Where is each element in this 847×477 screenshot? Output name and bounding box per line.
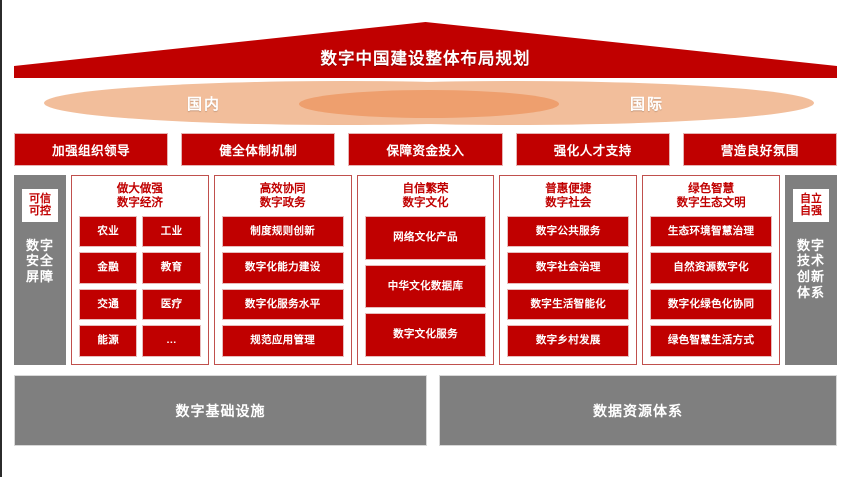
pillar-heading: 做大做强 数字经济 <box>79 182 201 211</box>
right-sidebar-title: 数字 技术 创新 体系 <box>797 238 825 301</box>
pillar-heading: 自信繁荣 数字文化 <box>365 182 487 211</box>
pillar-eco-civilization[interactable]: 绿色智慧 数字生态文明 生态环境智慧治理 自然资源数字化 数字化绿色化协同 绿色… <box>642 175 780 365</box>
pillar-heading: 高效协同 数字政务 <box>222 182 344 211</box>
pillar-tiles: 生态环境智慧治理 自然资源数字化 数字化绿色化协同 绿色智慧生活方式 <box>650 216 772 357</box>
tile-item[interactable]: 数字文化服务 <box>365 313 487 357</box>
tile-item[interactable]: 数字生活智能化 <box>507 289 629 321</box>
tile-item[interactable]: 绿色智慧生活方式 <box>650 325 772 357</box>
tile-item[interactable]: 医疗 <box>142 289 200 321</box>
measure-banner-1[interactable]: 加强组织领导 <box>14 133 168 166</box>
tile-item[interactable]: 数字化绿色化协同 <box>650 289 772 321</box>
measure-banner-3[interactable]: 保障资金投入 <box>348 133 502 166</box>
tile-item-ellipsis[interactable]: … <box>142 325 200 357</box>
foundation-row: 数字基础设施 数据资源体系 <box>14 375 837 446</box>
roof-banner: 数字中国建设整体布局规划 <box>14 22 837 78</box>
right-sidebar-badge: 自立 自强 <box>793 189 829 222</box>
pillars-container: 做大做强 数字经济 农业 工业 金融 教育 交通 医疗 能源 … 高效协同 数字… <box>71 175 780 365</box>
pillars-row: 可信 可控 数字 安全 屏障 做大做强 数字经济 农业 工业 金融 教育 交通 … <box>14 175 837 365</box>
tile-item[interactable]: 规范应用管理 <box>222 325 344 357</box>
page-title: 数字中国建设整体布局规划 <box>14 22 837 78</box>
tile-item[interactable]: 工业 <box>142 216 200 248</box>
measures-row: 加强组织领导 健全体制机制 保障资金投入 强化人才支持 营造良好氛围 <box>14 133 837 166</box>
measure-banner-5[interactable]: 营造良好氛围 <box>683 133 837 166</box>
measure-banner-4[interactable]: 强化人才支持 <box>516 133 670 166</box>
tile-item[interactable]: 能源 <box>79 325 137 357</box>
left-sidebar-title: 数字 安全 屏障 <box>26 238 54 286</box>
tile-item[interactable]: 数字社会治理 <box>507 252 629 284</box>
pillar-digital-culture[interactable]: 自信繁荣 数字文化 网络文化产品 中华文化数据库 数字文化服务 <box>357 175 495 365</box>
band-label-international: 国际 <box>587 79 707 127</box>
tile-item[interactable]: 数字公共服务 <box>507 216 629 248</box>
pillar-tiles: 制度规则创新 数字化能力建设 数字化服务水平 规范应用管理 <box>222 216 344 357</box>
pillar-tiles: 网络文化产品 中华文化数据库 数字文化服务 <box>365 216 487 357</box>
tile-item[interactable]: 自然资源数字化 <box>650 252 772 284</box>
foundation-block-data-resources[interactable]: 数据资源体系 <box>439 375 837 446</box>
tile-item[interactable]: 中华文化数据库 <box>365 265 487 309</box>
tile-item[interactable]: 农业 <box>79 216 137 248</box>
tile-item[interactable]: 数字化能力建设 <box>222 252 344 284</box>
left-sidebar-badge: 可信 可控 <box>22 189 58 222</box>
overlapping-ellipses-icon <box>14 79 837 127</box>
pillar-tiles: 数字公共服务 数字社会治理 数字生活智能化 数字乡村发展 <box>507 216 629 357</box>
scope-band: 国内 国际 <box>14 79 837 127</box>
pillar-tiles: 农业 工业 金融 教育 交通 医疗 能源 … <box>79 216 201 357</box>
tile-item[interactable]: 金融 <box>79 252 137 284</box>
band-label-domestic: 国内 <box>144 79 264 127</box>
tile-item[interactable]: 网络文化产品 <box>365 216 487 260</box>
tile-item[interactable]: 生态环境智慧治理 <box>650 216 772 248</box>
foundation-block-infrastructure[interactable]: 数字基础设施 <box>14 375 427 446</box>
tile-item[interactable]: 交通 <box>79 289 137 321</box>
measure-banner-2[interactable]: 健全体制机制 <box>181 133 335 166</box>
pillar-heading: 绿色智慧 数字生态文明 <box>650 182 772 211</box>
tile-item[interactable]: 数字乡村发展 <box>507 325 629 357</box>
left-sidebar-security[interactable]: 可信 可控 数字 安全 屏障 <box>14 175 66 365</box>
diagram-canvas: 数字中国建设整体布局规划 国内 国际 加强组织领导 健全体制机制 保障资金投入 … <box>2 0 847 477</box>
tile-item[interactable]: 数字化服务水平 <box>222 289 344 321</box>
pillar-digital-society[interactable]: 普惠便捷 数字社会 数字公共服务 数字社会治理 数字生活智能化 数字乡村发展 <box>499 175 637 365</box>
right-sidebar-innovation[interactable]: 自立 自强 数字 技术 创新 体系 <box>785 175 837 365</box>
tile-item[interactable]: 制度规则创新 <box>222 216 344 248</box>
tile-item[interactable]: 教育 <box>142 252 200 284</box>
pillar-digital-government[interactable]: 高效协同 数字政务 制度规则创新 数字化能力建设 数字化服务水平 规范应用管理 <box>214 175 352 365</box>
pillar-digital-economy[interactable]: 做大做强 数字经济 农业 工业 金融 教育 交通 医疗 能源 … <box>71 175 209 365</box>
pillar-heading: 普惠便捷 数字社会 <box>507 182 629 211</box>
